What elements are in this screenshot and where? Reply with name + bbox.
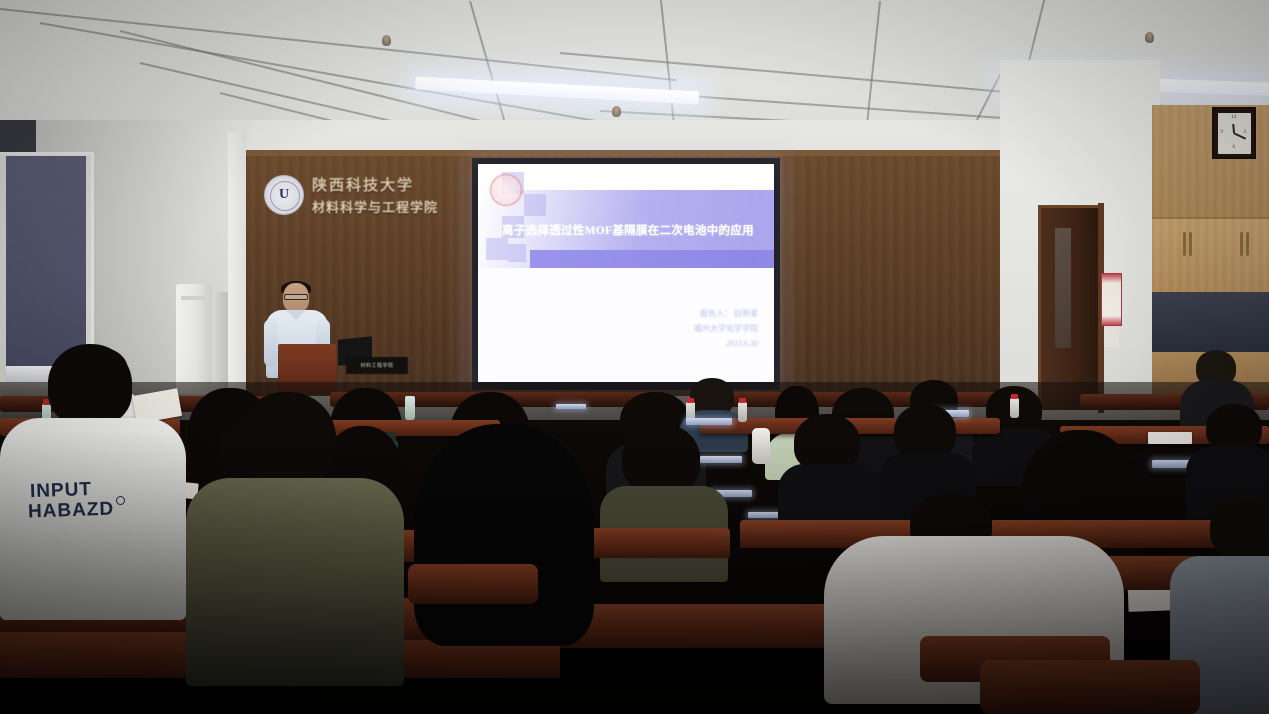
wall-pillar [228, 132, 246, 394]
sprinkler-head [612, 106, 621, 117]
wall-notice-poster-secondary [1104, 327, 1119, 347]
bottle-cap [1011, 394, 1018, 399]
clock-number: 12 [1232, 115, 1237, 120]
cabinet-handle[interactable] [1246, 232, 1249, 256]
seal-mark-label: U [279, 187, 289, 203]
water-bottle [1010, 398, 1019, 418]
sprinkler-head [1145, 32, 1154, 43]
air-conditioner-vent [181, 296, 206, 300]
water-bottle [752, 428, 770, 464]
student-device-screen [556, 404, 586, 409]
tshirt-badge-icon [116, 496, 125, 505]
cabinet-handle[interactable] [1183, 232, 1186, 256]
head [238, 392, 336, 488]
cabinet-handle[interactable] [1189, 232, 1192, 256]
chair-backrest [408, 564, 538, 604]
glasses-icon [284, 294, 308, 300]
slide-title: 离子选择透过性MOF基隔膜在二次电池中的应用 [484, 222, 772, 238]
clock-number: 6 [1233, 145, 1236, 150]
sprinkler-head [382, 35, 391, 46]
wall-clock: 12 3 6 9 [1212, 107, 1256, 159]
chair-backrest [980, 660, 1200, 714]
wall-notice-poster [1101, 273, 1122, 326]
floor-air-conditioner[interactable] [176, 284, 212, 394]
head [622, 424, 700, 494]
head [1206, 404, 1262, 452]
presenter-arm-left [264, 319, 278, 367]
slide-decor-square [524, 194, 546, 216]
banner-text-block: 陕西科技大学 材料科学与工程学院 [312, 174, 438, 216]
tshirt [186, 478, 404, 686]
clock-number: 9 [1221, 130, 1224, 135]
slide-affiliation-line: 福州大学化学学院 [598, 321, 758, 336]
wall-banner: U 陕西科技大学 材料科学与工程学院 [258, 166, 468, 224]
door-glass-panel [1055, 228, 1071, 348]
air-conditioner-side-panel [212, 292, 228, 392]
banner-university-name: 陕西科技大学 [312, 174, 438, 195]
student-device-screen [686, 418, 732, 425]
banner-school-name: 材料科学与工程学院 [312, 197, 438, 216]
university-seal-icon: U [264, 175, 304, 215]
projector-screen: 离子选择透过性MOF基隔膜在二次电池中的应用 报告人： 赵新星 福州大学化学学院… [478, 164, 774, 382]
water-bottle [738, 402, 747, 422]
clock-number: 3 [1244, 130, 1247, 135]
student-device-screen [700, 456, 742, 463]
water-bottle [405, 396, 415, 420]
window-blind[interactable] [6, 156, 86, 366]
wall-cabinet-middle[interactable] [1152, 217, 1269, 292]
slide-university-seal-icon [490, 174, 522, 206]
lecture-hall-photo: U 陕西科技大学 材料科学与工程学院 离子选择透过性MOF基隔膜在二次电池中的应… [0, 0, 1269, 714]
desk-row-front [560, 604, 840, 648]
tshirt-text-line1: INPUT [30, 481, 93, 501]
student-device-screen [748, 512, 782, 518]
clock-face: 12 3 6 9 [1218, 113, 1251, 154]
slide-presenter-line: 报告人： 赵新星 [598, 306, 758, 321]
paper-sheet [1148, 432, 1192, 444]
slide-decor-square [508, 244, 526, 262]
head [414, 424, 594, 646]
slide-date-line: 2023.6.30 [598, 336, 758, 351]
slide-footer-block: 报告人： 赵新星 福州大学化学学院 2023.6.30 [598, 306, 758, 351]
slide-accent-bar [530, 250, 774, 268]
bottle-cap [739, 398, 746, 403]
head [48, 344, 132, 426]
cabinet-open-recess [1152, 292, 1269, 352]
tshirt-text-line2: HABAZD [28, 501, 115, 522]
podium-label: 材料工程学院 [346, 357, 408, 374]
head [1210, 494, 1269, 560]
bottle-cap [687, 398, 694, 403]
cabinet-handle[interactable] [1240, 232, 1243, 256]
slide-decor-square [486, 238, 508, 260]
